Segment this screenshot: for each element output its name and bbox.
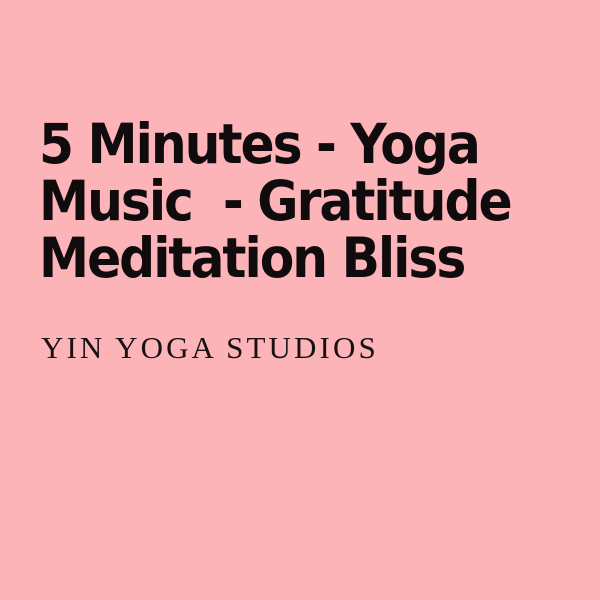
- title-line-1: 5 Minutes - Yoga: [39, 116, 538, 173]
- page-title: 5 Minutes - YogaMusic - GratitudeMeditat…: [39, 116, 538, 287]
- title-line-2: Music - Gratitude: [39, 173, 538, 230]
- studio-name-subtitle: YIN YOGA STUDIOS: [41, 331, 379, 365]
- cover-card: 5 Minutes - YogaMusic - GratitudeMeditat…: [0, 0, 600, 600]
- title-line-3: Meditation Bliss: [39, 230, 538, 287]
- text-block: 5 Minutes - YogaMusic - GratitudeMeditat…: [39, 116, 584, 287]
